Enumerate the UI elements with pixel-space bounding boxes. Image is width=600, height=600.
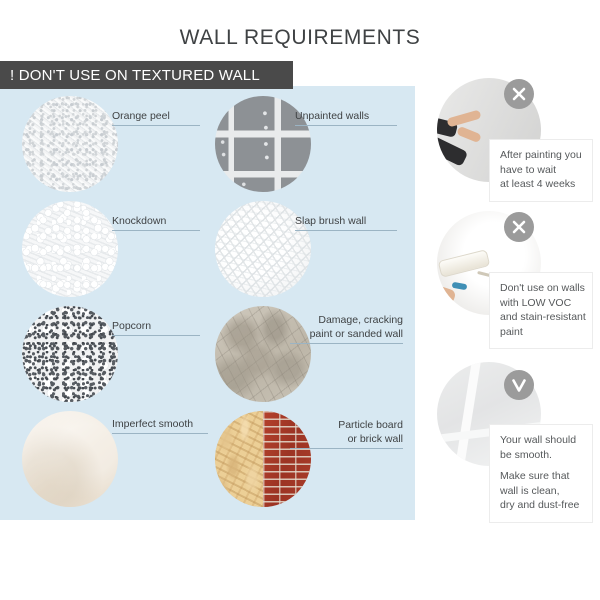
popcorn-texture-circle: [22, 306, 118, 402]
texture-label-popcorn: Popcorn: [112, 320, 200, 336]
texture-label-text-line2: or brick wall: [348, 433, 403, 445]
label-underline: [112, 125, 200, 126]
texture-label-damage-cracking: Damage, cracking paint or sanded wall: [290, 314, 403, 344]
texture-label-text: Imperfect smooth: [112, 418, 193, 430]
warning-banner-label: ! DON'T USE ON TEXTURED WALL: [0, 67, 260, 84]
texture-label-text: Unpainted walls: [295, 110, 369, 122]
label-underline: [112, 433, 208, 434]
label-underline: [295, 230, 397, 231]
hand-shape: [446, 109, 481, 127]
texture-label-knockdown: Knockdown: [112, 215, 200, 231]
caption-line: Don't use on walls: [500, 281, 583, 296]
label-underline: [290, 343, 403, 344]
card-caption-low-voc: Don't use on walls with LOW VOC and stai…: [489, 272, 593, 349]
x-mark-icon: [504, 79, 534, 109]
caption-line: at least 4 weeks: [500, 177, 583, 192]
texture-label-text: Knockdown: [112, 215, 166, 227]
texture-label-slap-brush-wall: Slap brush wall: [295, 215, 397, 231]
sleeve-shape-2: [437, 133, 468, 167]
texture-label-imperfect-smooth: Imperfect smooth: [112, 418, 208, 434]
caption-line: Make sure that: [500, 469, 583, 484]
caption-line: have to wait: [500, 163, 583, 178]
caption-line: and stain-resistant: [500, 310, 583, 325]
texture-label-text: Orange peel: [112, 110, 170, 122]
orange-peel-texture-circle: [22, 96, 118, 192]
caption-line: dry and dust-free: [500, 498, 583, 513]
caption-line: paint: [500, 325, 583, 340]
check-mark-icon: [504, 370, 534, 400]
caption-line: with LOW VOC: [500, 296, 583, 311]
warning-banner: ! DON'T USE ON TEXTURED WALL: [0, 61, 293, 89]
texture-label-orange-peel: Orange peel: [112, 110, 200, 126]
infographic-page: WALL REQUIREMENTS ! DON'T USE ON TEXTURE…: [0, 0, 600, 600]
texture-label-unpainted-walls: Unpainted walls: [295, 110, 397, 126]
caption-line: be smooth.: [500, 448, 583, 463]
caption-line: Your wall should: [500, 433, 583, 448]
card-caption-smooth-wall: Your wall should be smooth. Make sure th…: [489, 424, 593, 523]
card-caption-wait-4-weeks: After painting you have to wait at least…: [489, 139, 593, 202]
label-underline: [295, 125, 397, 126]
texture-label-particle-board: Particle board or brick wall: [290, 419, 403, 449]
wall-corner-vertical: [453, 362, 482, 466]
page-title: WALL REQUIREMENTS: [0, 26, 600, 50]
knockdown-texture-circle: [22, 201, 118, 297]
label-underline: [112, 230, 200, 231]
imperfect-smooth-circle: [22, 411, 118, 507]
texture-label-text-line2: paint or sanded wall: [310, 328, 403, 340]
label-underline: [290, 448, 403, 449]
texture-label-text-line1: Damage, cracking: [318, 314, 403, 326]
texture-label-text: Popcorn: [112, 320, 151, 332]
hand-shape-2: [456, 126, 482, 143]
caption-line: After painting you: [500, 148, 583, 163]
label-underline: [112, 335, 200, 336]
texture-label-text-line1: Particle board: [338, 419, 403, 431]
caption-line: wall is clean,: [500, 484, 583, 499]
x-mark-icon: [504, 212, 534, 242]
texture-label-text: Slap brush wall: [295, 215, 366, 227]
particle-board-half: [215, 411, 263, 507]
roller-grip-shape: [452, 282, 468, 291]
